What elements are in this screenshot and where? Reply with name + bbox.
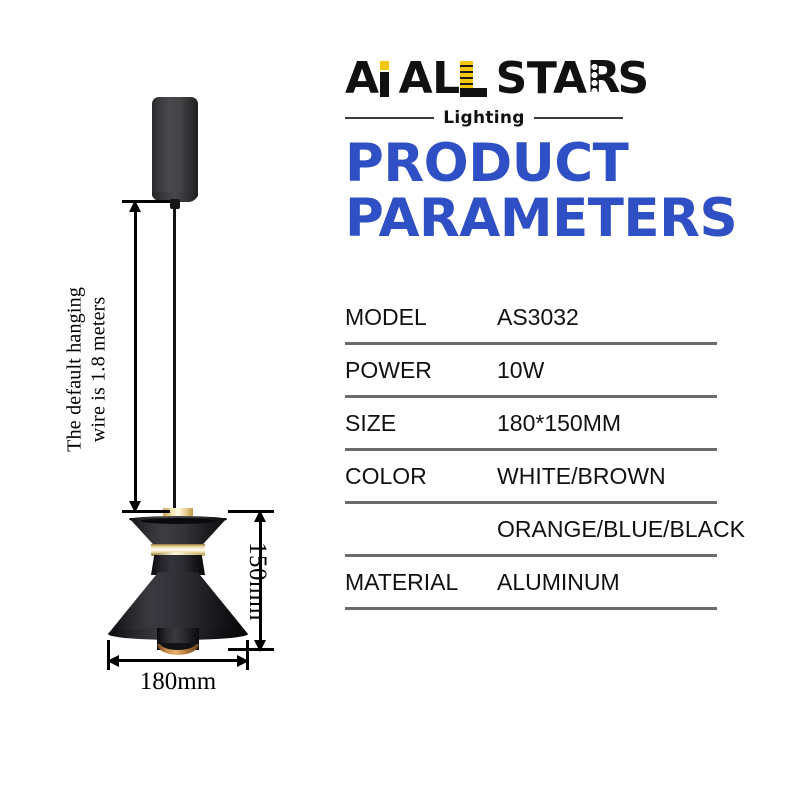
specification-table: MODEL AS3032 POWER 10W SIZE 180*150MM CO…: [345, 292, 717, 610]
width-dimension-shaft: [112, 659, 244, 662]
width-dimension-label: 180mm: [108, 668, 248, 696]
spec-key: COLOR: [345, 463, 497, 490]
logo-letters-sta: STA: [496, 53, 587, 104]
height-dimension-top-tick: [228, 510, 274, 513]
table-row: SIZE 180*150MM: [345, 398, 717, 451]
spec-value: AS3032: [497, 304, 717, 331]
spec-value: ORANGE/BLUE/BLACK: [497, 516, 747, 543]
spec-value: 180*150MM: [497, 410, 717, 437]
spec-key: MATERIAL: [345, 569, 497, 596]
page-title-line1: PRODUCT: [345, 137, 725, 192]
spec-value: ALUMINUM: [497, 569, 717, 596]
hanging-dimension-shaft: [134, 205, 137, 508]
table-row: COLOR WHITE/BROWN: [345, 451, 717, 504]
logo-letter-l1: L: [432, 53, 460, 104]
height-dimension-bottom-tick: [228, 648, 274, 651]
logo-rule-right: [534, 117, 623, 119]
height-dimension-arrow-up-icon: [254, 510, 266, 522]
spec-value: 10W: [497, 357, 717, 384]
page-title: PRODUCT PARAMETERS: [345, 137, 725, 246]
brand-subtitle-row: Lighting: [345, 108, 623, 128]
logo-rule-left: [345, 117, 434, 119]
product-diagram: The default hanging wire is 1.8 meters 1…: [0, 0, 335, 800]
logo-letter-s: S: [618, 53, 649, 104]
logo-striped-l-icon: [460, 61, 487, 97]
hanging-wire-note-line1: The default hanging: [63, 219, 87, 519]
height-dimension-arrow-down-icon: [254, 640, 266, 652]
suspension-cord: [173, 206, 176, 512]
hanging-wire-note-line2: wire is 1.8 meters: [87, 219, 111, 519]
logo-letter-a1: A: [345, 53, 379, 104]
logo-letter-a2: A: [399, 53, 433, 104]
spec-key: POWER: [345, 357, 497, 384]
hanging-dimension-arrow-down-icon: [129, 501, 141, 513]
table-row: ORANGE/BLUE/BLACK: [345, 504, 717, 557]
logo-dotted-i-icon: [379, 61, 390, 97]
height-dimension-label: 150mm: [243, 542, 271, 621]
table-row: POWER 10W: [345, 345, 717, 398]
hanging-dimension-arrow-up-icon: [129, 200, 141, 212]
table-row: MATERIAL ALUMINUM: [345, 557, 717, 610]
brand-logo: AALSTARS Lighting: [345, 57, 623, 128]
ceiling-canopy: [152, 97, 198, 198]
table-row: MODEL AS3032: [345, 292, 717, 345]
spec-key: MODEL: [345, 304, 497, 331]
width-dimension-arrow-left-icon: [107, 655, 119, 667]
upper-cone-inner-shadow: [141, 518, 215, 524]
brand-subtitle: Lighting: [443, 108, 525, 128]
logo-pearl-r-icon: R: [587, 61, 618, 97]
width-dimension-arrow-right-icon: [237, 655, 249, 667]
hanging-wire-note: The default hanging wire is 1.8 meters: [63, 219, 112, 519]
brand-wordmark: AALSTARS: [345, 57, 623, 101]
spec-value: WHITE/BROWN: [497, 463, 717, 490]
main-lamp-shade-cone: [108, 572, 248, 634]
page-title-line2: PARAMETERS: [345, 192, 725, 247]
spec-key: SIZE: [345, 410, 497, 437]
specification-panel: AALSTARS Lighting PRODUCT PARAMETERS MOD…: [345, 0, 725, 800]
